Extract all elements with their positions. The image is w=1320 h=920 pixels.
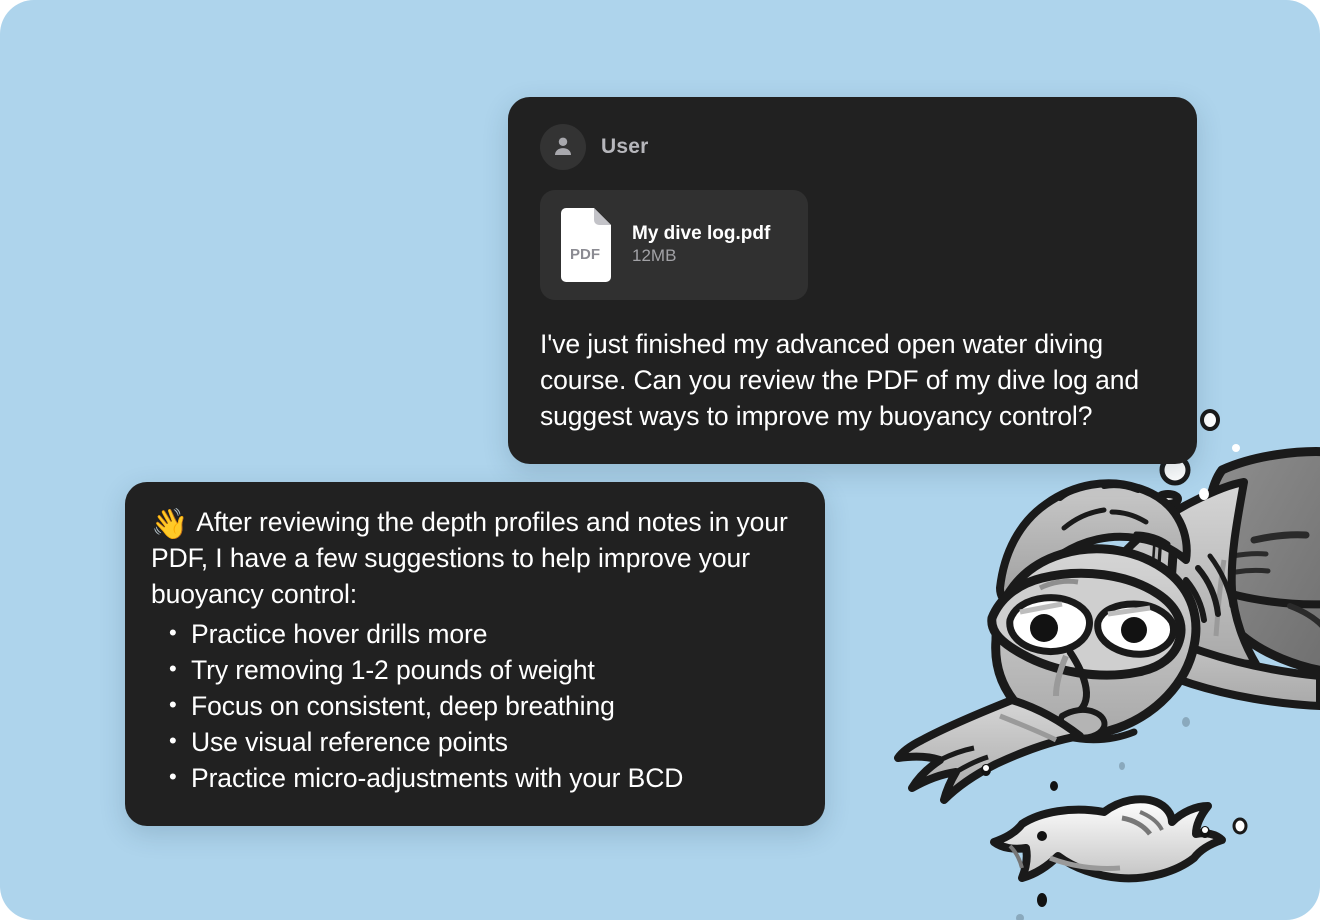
suggestion-list: Practice hover drills moreTry removing 1… xyxy=(151,616,795,796)
user-message-text: I've just finished my advanced open wate… xyxy=(540,326,1165,434)
attachment-filename: My dive log.pdf xyxy=(632,223,770,244)
person-avatar-icon xyxy=(540,124,586,170)
suggestion-item: Practice micro-adjustments with your BCD xyxy=(191,760,795,796)
chat-thread: User PDF My dive log.pdf 12MB I've just … xyxy=(0,0,1320,920)
assistant-intro-paragraph: 👋After reviewing the depth profiles and … xyxy=(151,504,795,612)
user-message-header: User xyxy=(540,123,1165,171)
pdf-icon-label: PDF xyxy=(570,246,600,263)
assistant-intro-text: After reviewing the depth profiles and n… xyxy=(151,507,788,609)
pdf-file-icon: PDF xyxy=(556,207,616,283)
suggestion-item: Focus on consistent, deep breathing xyxy=(191,688,795,724)
waving-hand-emoji: 👋 xyxy=(151,508,188,541)
suggestion-item: Practice hover drills more xyxy=(191,616,795,652)
assistant-message-bubble: 👋After reviewing the depth profiles and … xyxy=(125,482,825,826)
suggestion-item: Use visual reference points xyxy=(191,724,795,760)
suggestion-item: Try removing 1-2 pounds of weight xyxy=(191,652,795,688)
chat-illustration-canvas: User PDF My dive log.pdf 12MB I've just … xyxy=(0,0,1320,920)
user-message-bubble: User PDF My dive log.pdf 12MB I've just … xyxy=(508,97,1197,464)
pdf-attachment-card[interactable]: PDF My dive log.pdf 12MB xyxy=(540,190,808,300)
user-name-label: User xyxy=(601,135,649,159)
attachment-filesize: 12MB xyxy=(632,246,676,265)
attachment-meta: My dive log.pdf 12MB xyxy=(632,223,792,266)
